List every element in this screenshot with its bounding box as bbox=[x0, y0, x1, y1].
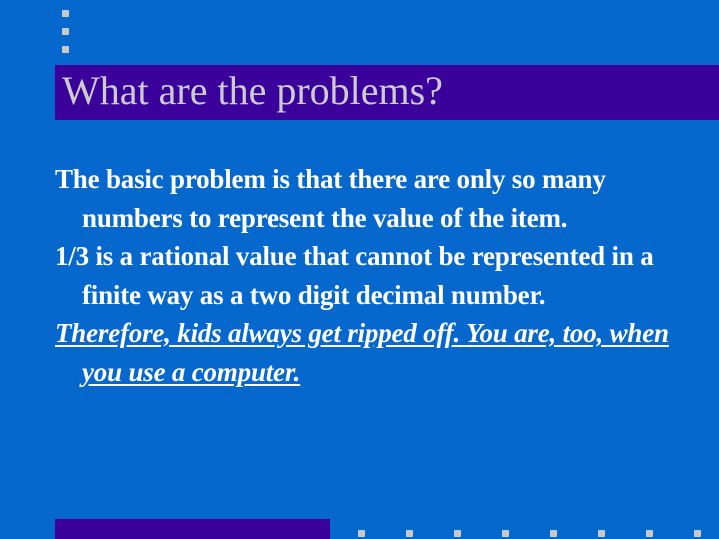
decorative-dot bbox=[646, 530, 653, 537]
decorative-dot bbox=[598, 530, 605, 537]
decorative-dot bbox=[62, 10, 69, 17]
body-paragraph-1: The basic problem is that there are only… bbox=[55, 160, 675, 237]
slide-canvas: What are the problems? The basic problem… bbox=[0, 0, 719, 539]
decorative-dot bbox=[550, 530, 557, 537]
decorative-dot bbox=[62, 46, 69, 53]
bottom-accent-bar bbox=[55, 519, 330, 539]
body-paragraph-2: 1/3 is a rational value that cannot be r… bbox=[55, 237, 675, 314]
decorative-dot bbox=[406, 530, 413, 537]
decorative-dot bbox=[694, 530, 701, 537]
decorative-dot bbox=[502, 530, 509, 537]
body-paragraph-3: Therefore, kids always get ripped off. Y… bbox=[55, 314, 675, 391]
decorative-dot bbox=[62, 28, 69, 35]
decorative-dot bbox=[454, 530, 461, 537]
slide-body: The basic problem is that there are only… bbox=[55, 160, 675, 391]
title-banner: What are the problems? bbox=[55, 65, 719, 120]
decorative-dot bbox=[358, 530, 365, 537]
page-title: What are the problems? bbox=[62, 63, 443, 119]
